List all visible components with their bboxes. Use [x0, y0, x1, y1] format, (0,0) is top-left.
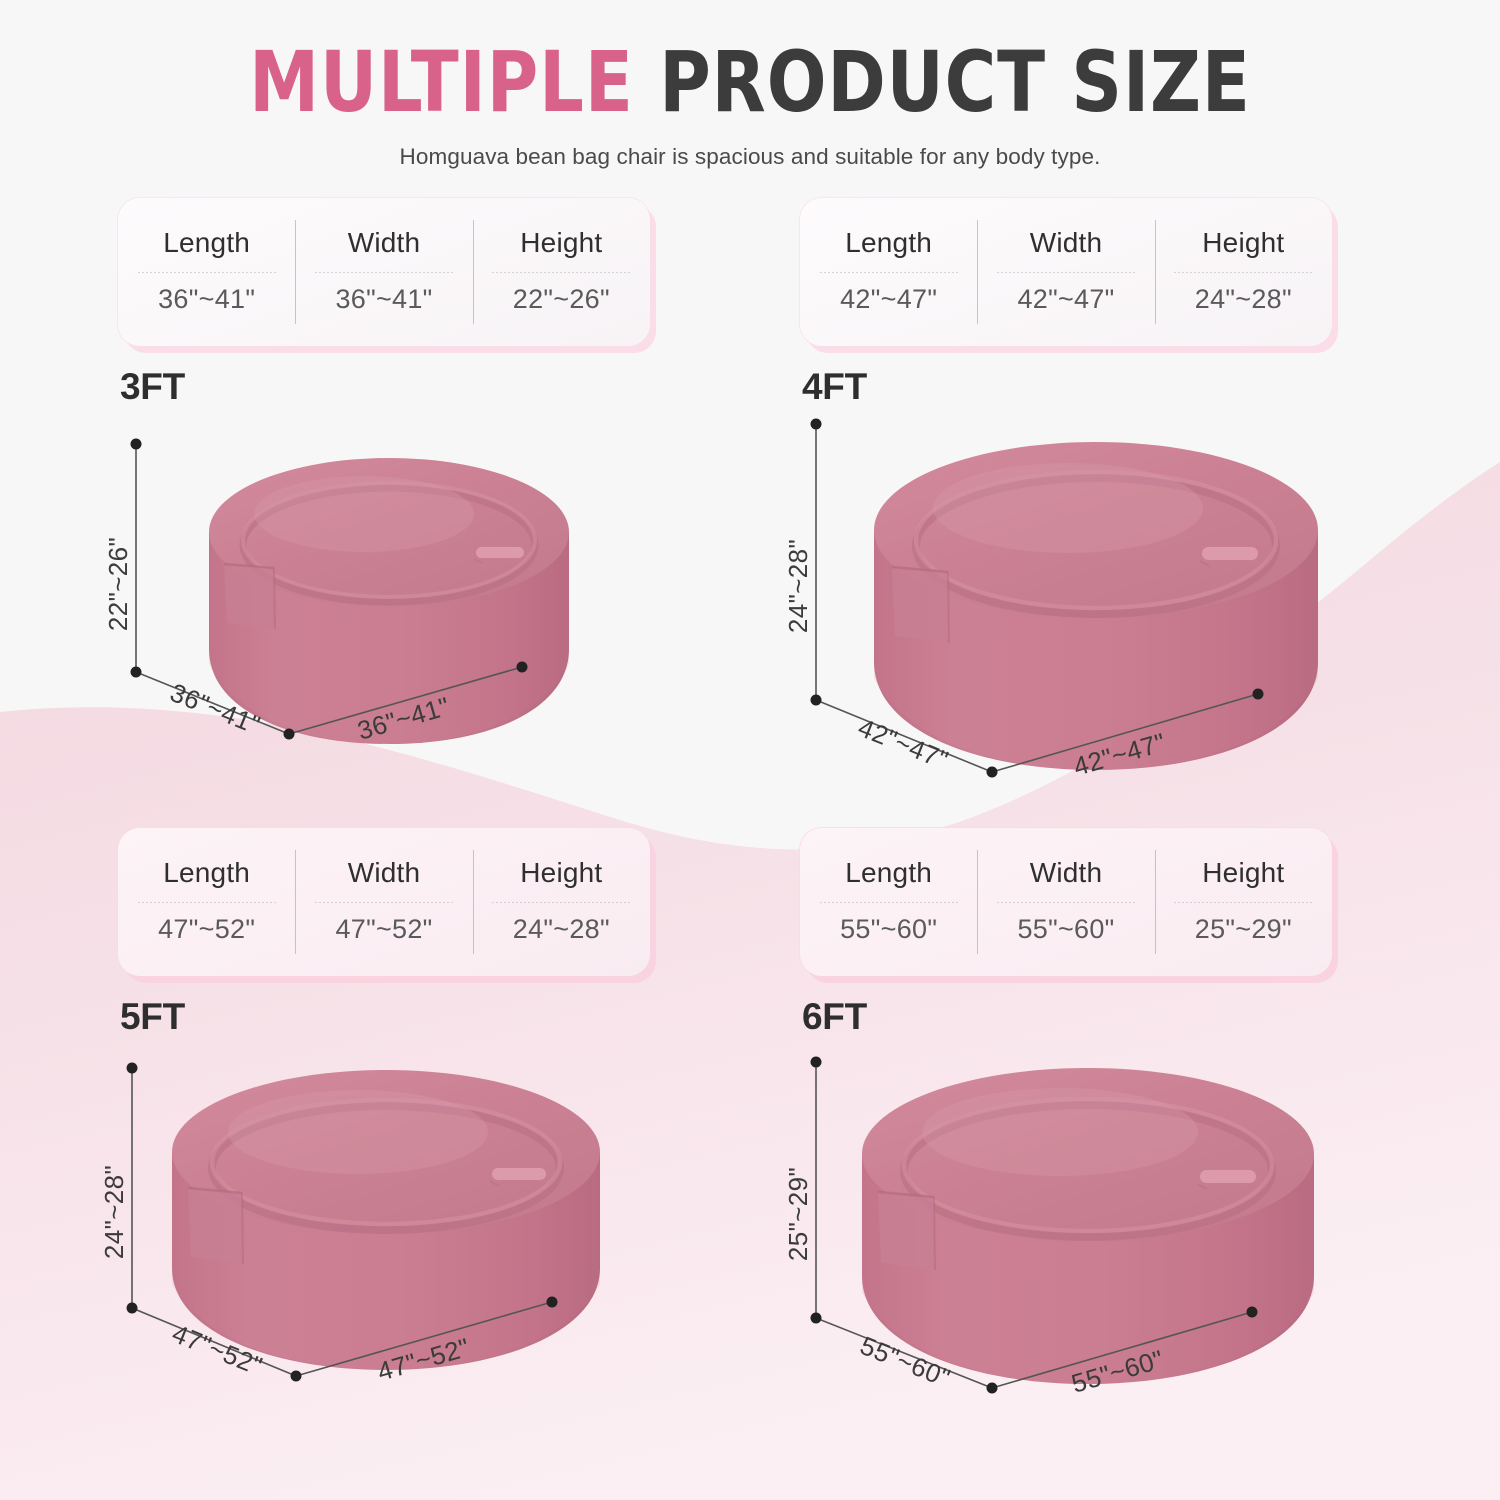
- spec-header-length: Length: [163, 229, 250, 257]
- spec-divider-dotted: [1172, 901, 1314, 904]
- spec-value-width: 47"~52": [335, 916, 432, 943]
- spec-col-length: Length 36"~41": [118, 198, 295, 346]
- spec-divider-dotted: [995, 271, 1137, 274]
- spec-col-height: Height 24"~28": [473, 828, 650, 976]
- size-block-5ft: Length 47"~52" Width 47"~52" Height 24"~…: [118, 828, 734, 1410]
- size-label-6ft: 6FT: [802, 996, 1436, 1038]
- spec-card-6ft: Length 55"~60" Width 55"~60" Height 25"~…: [800, 828, 1332, 976]
- spec-col-width: Width 47"~52": [295, 828, 472, 976]
- spec-header-height: Height: [520, 859, 602, 887]
- product-image-4ft: 24"~28" 42"~47" 42"~47": [796, 400, 1436, 795]
- spec-divider-dotted: [995, 901, 1137, 904]
- spec-col-width: Width 55"~60": [977, 828, 1154, 976]
- spec-col-height: Height 25"~29": [1155, 828, 1332, 976]
- spec-divider-dotted: [136, 271, 278, 274]
- spec-col-length: Length 42"~47": [800, 198, 977, 346]
- product-image-6ft: 25"~29" 55"~60" 55"~60": [796, 1036, 1436, 1421]
- product-image-5ft: 24"~28" 47"~52" 47"~52": [114, 1040, 734, 1410]
- spec-value-length: 47"~52": [158, 916, 255, 943]
- spec-value-length: 55"~60": [840, 916, 937, 943]
- spec-divider-dotted: [1172, 271, 1314, 274]
- size-block-6ft: Length 55"~60" Width 55"~60" Height 25"~…: [800, 828, 1436, 1421]
- product-image-3ft: 22"~26" 36"~41" 36"~41": [114, 414, 734, 769]
- spec-value-height: 24"~28": [513, 916, 610, 943]
- spec-header-length: Length: [163, 859, 250, 887]
- spec-header-length: Length: [845, 229, 932, 257]
- size-label-5ft: 5FT: [120, 996, 734, 1038]
- infographic-page: MULTIPLE PRODUCT SIZE Homguava bean bag …: [0, 0, 1500, 1500]
- size-block-3ft: Length 36"~41" Width 36"~41" Height 22"~…: [118, 198, 734, 769]
- page-subtitle: Homguava bean bag chair is spacious and …: [0, 144, 1500, 170]
- dim-label-height: 24"~28": [783, 539, 813, 633]
- title-accent: MULTIPLE: [249, 33, 634, 131]
- spec-col-length: Length 55"~60": [800, 828, 977, 976]
- spec-card-4ft: Length 42"~47" Width 42"~47" Height 24"~…: [800, 198, 1332, 346]
- spec-divider-dotted: [490, 901, 632, 904]
- page-title: MULTIPLE PRODUCT SIZE: [53, 0, 1448, 126]
- spec-col-length: Length 47"~52": [118, 828, 295, 976]
- spec-value-length: 36"~41": [158, 286, 255, 313]
- header: MULTIPLE PRODUCT SIZE Homguava bean bag …: [0, 0, 1500, 170]
- spec-col-width: Width 42"~47": [977, 198, 1154, 346]
- spec-header-length: Length: [845, 859, 932, 887]
- spec-header-width: Width: [348, 229, 421, 257]
- spec-col-height: Height 24"~28": [1155, 198, 1332, 346]
- spec-value-width: 55"~60": [1017, 916, 1114, 943]
- spec-value-height: 24"~28": [1195, 286, 1292, 313]
- size-label-3ft: 3FT: [120, 366, 734, 408]
- title-main: PRODUCT SIZE: [634, 33, 1251, 131]
- spec-value-height: 22"~26": [513, 286, 610, 313]
- spec-value-width: 42"~47": [1017, 286, 1114, 313]
- size-block-4ft: Length 42"~47" Width 42"~47" Height 24"~…: [800, 198, 1436, 795]
- spec-header-height: Height: [1202, 859, 1284, 887]
- spec-card-5ft: Length 47"~52" Width 47"~52" Height 24"~…: [118, 828, 650, 976]
- spec-divider-dotted: [818, 901, 960, 904]
- spec-header-height: Height: [520, 229, 602, 257]
- spec-value-height: 25"~29": [1195, 916, 1292, 943]
- spec-header-width: Width: [348, 859, 421, 887]
- spec-divider-dotted: [313, 901, 455, 904]
- dim-label-height: 24"~28": [99, 1165, 129, 1259]
- spec-card-3ft: Length 36"~41" Width 36"~41" Height 22"~…: [118, 198, 650, 346]
- spec-value-width: 36"~41": [335, 286, 432, 313]
- spec-col-width: Width 36"~41": [295, 198, 472, 346]
- dim-label-height: 22"~26": [103, 537, 133, 631]
- spec-divider-dotted: [818, 271, 960, 274]
- spec-header-width: Width: [1030, 859, 1103, 887]
- spec-value-length: 42"~47": [840, 286, 937, 313]
- spec-header-width: Width: [1030, 229, 1103, 257]
- spec-divider-dotted: [313, 271, 455, 274]
- spec-divider-dotted: [136, 901, 278, 904]
- dim-label-height: 25"~29": [783, 1167, 813, 1261]
- spec-divider-dotted: [490, 271, 632, 274]
- spec-header-height: Height: [1202, 229, 1284, 257]
- spec-col-height: Height 22"~26": [473, 198, 650, 346]
